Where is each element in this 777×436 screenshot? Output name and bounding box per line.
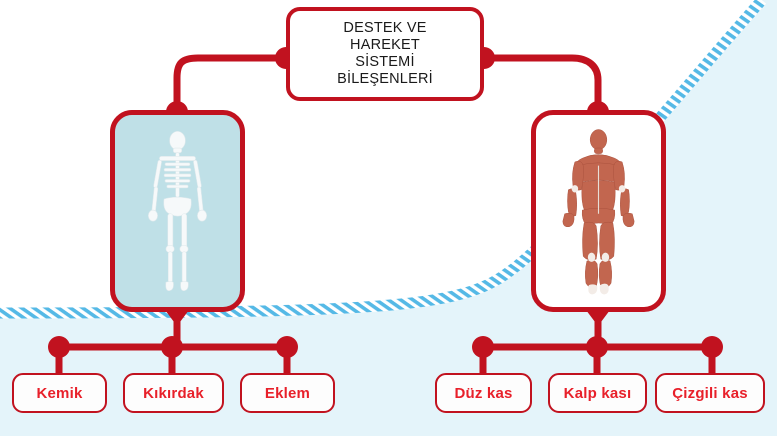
- bar-dot-left-3: [276, 336, 298, 358]
- bar-dot-left-2: [161, 336, 183, 358]
- skeleton-icon: [115, 115, 240, 307]
- leaf-node-kalp-kasi[interactable]: Kalp kası: [548, 373, 647, 413]
- muscle-figure-icon: [536, 115, 661, 307]
- leaf-label: Kemik: [36, 385, 82, 402]
- leaf-node-kikirdak[interactable]: Kıkırdak: [123, 373, 224, 413]
- skeleton-pointer: [165, 310, 189, 326]
- bar-dot-right-3: [701, 336, 723, 358]
- leaf-label: Kalp kası: [564, 385, 632, 402]
- leaf-node-kemik[interactable]: Kemik: [12, 373, 107, 413]
- muscle-pointer: [586, 310, 610, 326]
- bar-dot-right-2: [586, 336, 608, 358]
- muscular-system-panel[interactable]: [531, 110, 666, 312]
- leaf-node-eklem[interactable]: Eklem: [240, 373, 335, 413]
- root-node[interactable]: DESTEK VE HAREKET SİSTEMİ BİLEŞENLERİ: [286, 7, 484, 101]
- leaf-label: Çizgili kas: [672, 385, 748, 402]
- leaf-label: Kıkırdak: [143, 385, 204, 402]
- bar-dot-left-1: [48, 336, 70, 358]
- root-node-label: DESTEK VE HAREKET SİSTEMİ BİLEŞENLERİ: [337, 20, 433, 88]
- leaf-node-cizgili-kas[interactable]: Çizgili kas: [655, 373, 765, 413]
- leaf-label: Eklem: [265, 385, 310, 402]
- skeletal-system-panel[interactable]: [110, 110, 245, 312]
- bar-dot-right-1: [472, 336, 494, 358]
- leaf-label: Düz kas: [454, 385, 512, 402]
- leaf-node-duz-kas[interactable]: Düz kas: [435, 373, 532, 413]
- diagram-canvas: DESTEK VE HAREKET SİSTEMİ BİLEŞENLERİ: [0, 0, 777, 436]
